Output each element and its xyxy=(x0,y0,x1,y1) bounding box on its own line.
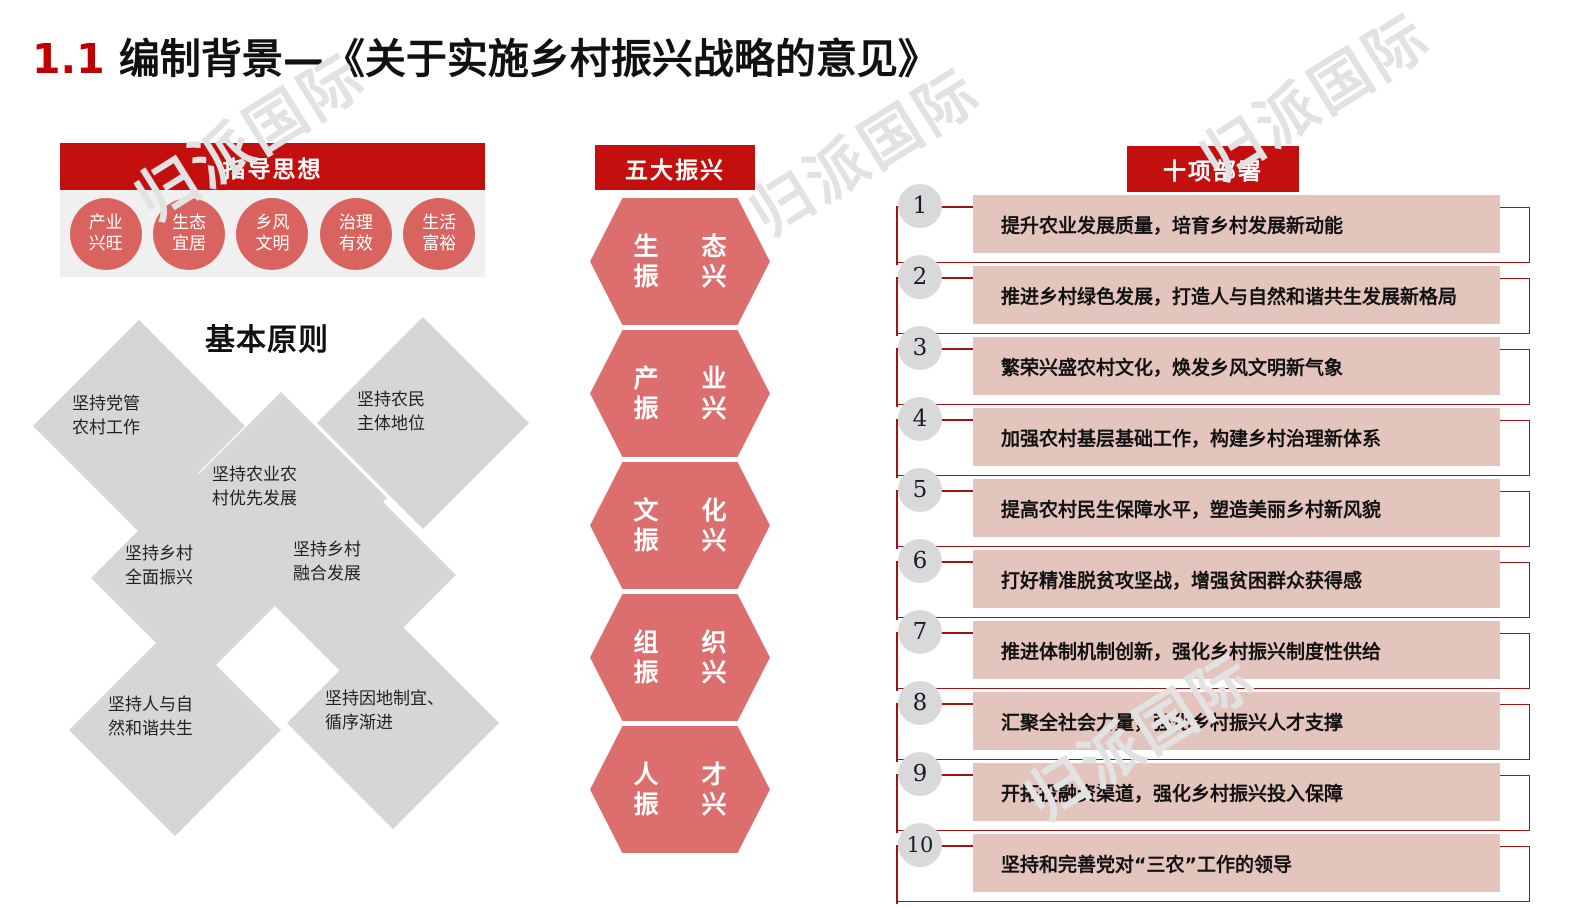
revitalization-hexagon: 组织振兴 xyxy=(590,594,770,721)
circle-line-2: 文明 xyxy=(255,234,289,255)
circle-line-2: 宜居 xyxy=(172,234,206,255)
principle-label-line-2: 然和谐共生 xyxy=(108,717,268,741)
ten-deployments-header: 十项部署 xyxy=(1127,146,1299,192)
principle-label-line-2: 农村工作 xyxy=(72,416,232,440)
page-title-number: 1.1 xyxy=(32,35,105,83)
hexagon-char-2: 态 xyxy=(691,232,737,262)
deployment-number-badge: 1 xyxy=(898,184,942,228)
deployment-text-box: 推进乡村绿色发展，打造人与自然和谐共生发展新格局 xyxy=(973,266,1500,324)
deployment-number-badge: 3 xyxy=(898,326,942,370)
deployment-text-box: 提升农业发展质量，培育乡村发展新动能 xyxy=(973,195,1500,253)
guiding-ideology-circle: 产业兴旺 xyxy=(70,198,142,270)
principle-label-line-2: 全面振兴 xyxy=(125,566,285,590)
circle-line-1: 生态 xyxy=(172,213,206,234)
deployment-text: 开拓投融资渠道，强化乡村振兴投入保障 xyxy=(973,779,1343,806)
deployment-row[interactable]: 2推进乡村绿色发展，打造人与自然和谐共生发展新格局 xyxy=(890,264,1550,334)
principle-label: 坚持人与自然和谐共生 xyxy=(108,693,268,741)
circle-line-1: 乡风 xyxy=(255,213,289,234)
deployment-number-badge: 7 xyxy=(898,610,942,654)
deployment-text: 打好精准脱贫攻坚战，增强贫困群众获得感 xyxy=(973,566,1362,593)
hexagon-char-4: 兴 xyxy=(691,394,737,424)
deployment-text: 繁荣兴盛农村文化，焕发乡风文明新气象 xyxy=(973,353,1343,380)
circle-line-2: 有效 xyxy=(339,234,373,255)
hexagon-label: 生态振兴 xyxy=(623,232,737,292)
principle-label-line-2: 主体地位 xyxy=(357,412,517,436)
revitalization-hexagon: 产业振兴 xyxy=(590,330,770,457)
circle-line-1: 生活 xyxy=(422,213,456,234)
deployment-number-badge: 2 xyxy=(898,255,942,299)
deployment-number-badge: 9 xyxy=(898,752,942,796)
basic-principles-title: 基本原则 xyxy=(205,315,329,359)
deployment-text-box: 加强农村基层基础工作，构建乡村治理新体系 xyxy=(973,408,1500,466)
principle-label-line-1: 坚持党管 xyxy=(72,392,232,416)
hexagon-char-1: 产 xyxy=(623,364,669,394)
principle-label-line-2: 村优先发展 xyxy=(212,487,372,511)
hexagon-char-1: 组 xyxy=(623,628,669,658)
guiding-ideology-circle: 治理有效 xyxy=(320,198,392,270)
principle-label-line-1: 坚持人与自 xyxy=(108,693,268,717)
deployment-number-badge: 10 xyxy=(898,823,942,867)
slide-canvas: 归派国际 归派国际 归派国际 归派国际 1.1 编制背景—《关于实施乡村振兴战略… xyxy=(0,0,1587,907)
deployment-number-badge: 5 xyxy=(898,468,942,512)
principle-label: 坚持农民主体地位 xyxy=(357,388,517,436)
hexagon-char-3: 振 xyxy=(623,658,669,688)
page-title-text: 编制背景—《关于实施乡村振兴战略的意见》 xyxy=(119,35,939,83)
hexagon-char-2: 才 xyxy=(691,760,737,790)
deployment-text: 坚持和完善党对“三农”工作的领导 xyxy=(973,850,1292,877)
deployment-text-box: 推进体制机制创新，强化乡村振兴制度性供给 xyxy=(973,621,1500,679)
deployment-row[interactable]: 1提升农业发展质量，培育乡村发展新动能 xyxy=(890,193,1550,263)
circle-line-2: 兴旺 xyxy=(89,234,123,255)
deployment-text-box: 提高农村民生保障水平，塑造美丽乡村新风貌 xyxy=(973,479,1500,537)
hexagon-label: 产业振兴 xyxy=(623,364,737,424)
principle-label-line-2: 融合发展 xyxy=(293,562,453,586)
five-revitalizations-header: 五大振兴 xyxy=(595,145,755,190)
deployment-row[interactable]: 4加强农村基层基础工作，构建乡村治理新体系 xyxy=(890,406,1550,476)
deployment-text: 加强农村基层基础工作，构建乡村治理新体系 xyxy=(973,424,1381,451)
guiding-ideology-circle: 生活富裕 xyxy=(403,198,475,270)
deployment-number-badge: 8 xyxy=(898,681,942,725)
hexagon-label: 组织振兴 xyxy=(623,628,737,688)
page-title: 1.1 编制背景—《关于实施乡村振兴战略的意见》 xyxy=(32,25,939,85)
circle-line-2: 富裕 xyxy=(422,234,456,255)
basic-principles-diagram: 坚持党管农村工作坚持农民主体地位坚持农业农村优先发展坚持乡村全面振兴坚持乡村融合… xyxy=(0,330,560,830)
hexagon-char-3: 振 xyxy=(623,262,669,292)
deployment-text: 提升农业发展质量，培育乡村发展新动能 xyxy=(973,211,1343,238)
hexagon-char-2: 化 xyxy=(691,496,737,526)
deployment-row[interactable]: 3繁荣兴盛农村文化，焕发乡风文明新气象 xyxy=(890,335,1550,405)
hexagon-char-4: 兴 xyxy=(691,262,737,292)
hexagon-char-1: 文 xyxy=(623,496,669,526)
principle-label-line-2: 循序渐进 xyxy=(325,711,485,735)
guiding-ideology-header: 指导思想 xyxy=(60,143,485,190)
revitalization-hexagon: 生态振兴 xyxy=(590,198,770,325)
guiding-ideology-circle: 生态宜居 xyxy=(153,198,225,270)
principle-label: 坚持党管农村工作 xyxy=(72,392,232,440)
principle-label-line-1: 坚持农民 xyxy=(357,388,517,412)
deployment-text: 推进乡村绿色发展，打造人与自然和谐共生发展新格局 xyxy=(973,282,1457,309)
principle-label: 坚持乡村全面振兴 xyxy=(125,542,285,590)
deployment-number-badge: 4 xyxy=(898,397,942,441)
hexagon-char-1: 人 xyxy=(623,760,669,790)
hexagon-char-4: 兴 xyxy=(691,526,737,556)
principle-label-line-1: 坚持乡村 xyxy=(125,542,285,566)
guiding-ideology-circle: 乡风文明 xyxy=(236,198,308,270)
deployment-row[interactable]: 7推进体制机制创新，强化乡村振兴制度性供给 xyxy=(890,619,1550,689)
guiding-ideology-panel: 指导思想 产业兴旺生态宜居乡风文明治理有效生活富裕 xyxy=(60,143,485,277)
principle-label-line-1: 坚持农业农 xyxy=(212,463,372,487)
hexagon-char-4: 兴 xyxy=(691,658,737,688)
deployment-text: 推进体制机制创新，强化乡村振兴制度性供给 xyxy=(973,637,1381,664)
deployment-text-box: 汇聚全社会力量，强化乡村振兴人才支撑 xyxy=(973,692,1500,750)
principle-label-line-1: 坚持因地制宜、 xyxy=(325,687,485,711)
deployment-text: 提高农村民生保障水平，塑造美丽乡村新风貌 xyxy=(973,495,1381,522)
hexagon-label: 人才振兴 xyxy=(623,760,737,820)
deployment-text-box: 繁荣兴盛农村文化，焕发乡风文明新气象 xyxy=(973,337,1500,395)
guiding-ideology-circles: 产业兴旺生态宜居乡风文明治理有效生活富裕 xyxy=(60,190,485,277)
circle-line-1: 产业 xyxy=(89,213,123,234)
deployment-row[interactable]: 10坚持和完善党对“三农”工作的领导 xyxy=(890,832,1550,902)
deployment-text-box: 开拓投融资渠道，强化乡村振兴投入保障 xyxy=(973,763,1500,821)
hexagon-char-4: 兴 xyxy=(691,790,737,820)
deployment-text-box: 坚持和完善党对“三农”工作的领导 xyxy=(973,834,1500,892)
hexagon-char-3: 振 xyxy=(623,394,669,424)
principle-label-line-1: 坚持乡村 xyxy=(293,538,453,562)
deployment-row[interactable]: 5提高农村民生保障水平，塑造美丽乡村新风貌 xyxy=(890,477,1550,547)
hexagon-char-1: 生 xyxy=(623,232,669,262)
hexagon-char-3: 振 xyxy=(623,526,669,556)
hexagon-label: 文化振兴 xyxy=(623,496,737,556)
circle-line-1: 治理 xyxy=(339,213,373,234)
deployment-number-badge: 6 xyxy=(898,539,942,583)
revitalization-hexagon: 人才振兴 xyxy=(590,726,770,853)
deployment-row[interactable]: 9开拓投融资渠道，强化乡村振兴投入保障 xyxy=(890,761,1550,831)
ten-deployments-list: 1提升农业发展质量，培育乡村发展新动能2推进乡村绿色发展，打造人与自然和谐共生发… xyxy=(890,193,1550,903)
five-revitalizations-list: 生态振兴产业振兴文化振兴组织振兴人才振兴 xyxy=(590,198,770,858)
principle-label: 坚持农业农村优先发展 xyxy=(212,463,372,511)
principle-label: 坚持因地制宜、循序渐进 xyxy=(325,687,485,735)
hexagon-char-2: 业 xyxy=(691,364,737,394)
hexagon-char-2: 织 xyxy=(691,628,737,658)
deployment-row[interactable]: 8汇聚全社会力量，强化乡村振兴人才支撑 xyxy=(890,690,1550,760)
principle-label: 坚持乡村融合发展 xyxy=(293,538,453,586)
revitalization-hexagon: 文化振兴 xyxy=(590,462,770,589)
deployment-text: 汇聚全社会力量，强化乡村振兴人才支撑 xyxy=(973,708,1343,735)
deployment-row[interactable]: 6打好精准脱贫攻坚战，增强贫困群众获得感 xyxy=(890,548,1550,618)
hexagon-char-3: 振 xyxy=(623,790,669,820)
deployment-text-box: 打好精准脱贫攻坚战，增强贫困群众获得感 xyxy=(973,550,1500,608)
